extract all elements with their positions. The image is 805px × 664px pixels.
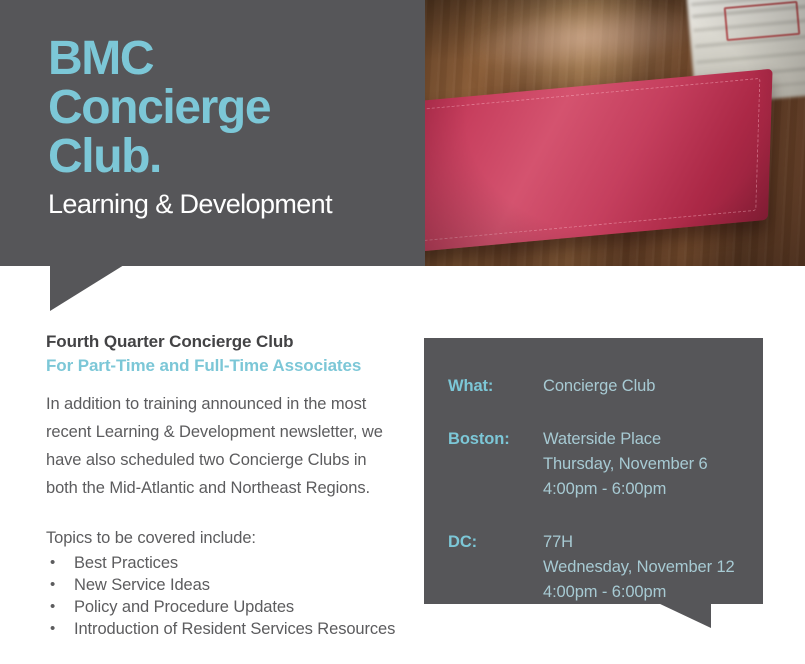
- event-details-rows: What: Concierge Club Boston: Waterside P…: [448, 374, 749, 619]
- list-item: Introduction of Resident Services Resour…: [46, 618, 396, 640]
- brand-title-line-3: Club.: [48, 132, 408, 181]
- header-photo: [425, 0, 805, 266]
- content-subheading: For Part-Time and Full-Time Associates: [46, 354, 396, 378]
- detail-row-boston: Boston: Waterside Place Thursday, Novemb…: [448, 427, 749, 502]
- detail-row-dc: DC: 77H Wednesday, November 12 4:00pm - …: [448, 530, 749, 605]
- detail-value-line: 4:00pm - 6:00pm: [543, 477, 708, 502]
- list-item: New Service Ideas: [46, 574, 396, 596]
- brand-title-line-2: Concierge: [48, 83, 408, 132]
- event-details-panel: What: Concierge Club Boston: Waterside P…: [424, 338, 763, 604]
- detail-label: DC:: [448, 530, 543, 555]
- detail-row-what: What: Concierge Club: [448, 374, 749, 399]
- detail-label: What:: [448, 374, 543, 399]
- content-column: Fourth Quarter Concierge Club For Part-T…: [46, 330, 396, 640]
- flyer-page: BMC Concierge Club. Learning & Developme…: [0, 0, 805, 664]
- brand-title: BMC Concierge Club.: [48, 34, 408, 181]
- detail-value-line: 4:00pm - 6:00pm: [543, 580, 735, 605]
- detail-value-line: Waterside Place: [543, 427, 708, 452]
- brand-block: BMC Concierge Club. Learning & Developme…: [48, 34, 408, 221]
- detail-value-line: Concierge Club: [543, 374, 655, 399]
- brand-subtitle: Learning & Development: [48, 187, 408, 221]
- content-paragraph: In addition to training announced in the…: [46, 390, 396, 502]
- photo-vignette: [425, 0, 805, 266]
- detail-value: Waterside Place Thursday, November 6 4:0…: [543, 427, 708, 502]
- detail-value-line: Thursday, November 6: [543, 452, 708, 477]
- detail-value-line: Wednesday, November 12: [543, 555, 735, 580]
- header-band: BMC Concierge Club. Learning & Developme…: [0, 0, 805, 266]
- list-item: Best Practices: [46, 552, 396, 574]
- topics-list: Best Practices New Service Ideas Policy …: [46, 552, 396, 640]
- detail-label: Boston:: [448, 427, 543, 452]
- list-item: Policy and Procedure Updates: [46, 596, 396, 618]
- brand-title-line-1: BMC: [48, 34, 408, 83]
- header-dark-panel: BMC Concierge Club. Learning & Developme…: [0, 0, 425, 266]
- content-heading: Fourth Quarter Concierge Club: [46, 330, 396, 354]
- topics-lead-in: Topics to be covered include:: [46, 524, 396, 552]
- header-speech-bubble-tail: [50, 265, 124, 311]
- detail-value-line: 77H: [543, 530, 735, 555]
- detail-value: 77H Wednesday, November 12 4:00pm - 6:00…: [543, 530, 735, 605]
- detail-value: Concierge Club: [543, 374, 655, 399]
